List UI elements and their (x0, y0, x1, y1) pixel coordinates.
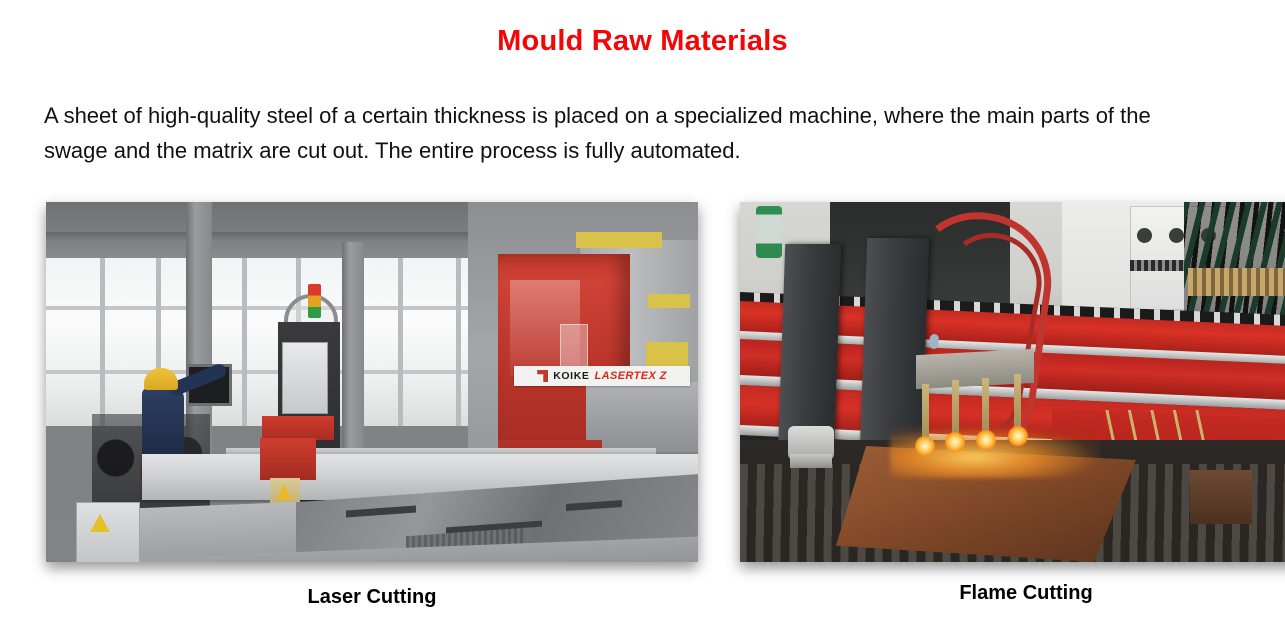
photo-flame-cutting (740, 202, 1285, 562)
window-mullion (456, 258, 461, 426)
photo-laser-cutting: KOIKE LASERTEX Z (46, 202, 698, 562)
figure-row: KOIKE LASERTEX Z (0, 186, 1285, 606)
window-mullion (242, 258, 247, 426)
figure-laser-cutting: KOIKE LASERTEX Z (46, 202, 698, 609)
cutting-torch (982, 378, 989, 436)
machine-brand-plate: KOIKE LASERTEX Z (514, 366, 690, 386)
worker-body (142, 388, 184, 454)
panel-knob (1137, 228, 1152, 243)
electrical-cabinet (76, 502, 140, 562)
machine-model-text: LASERTEX Z (595, 370, 667, 382)
structural-column (342, 242, 364, 482)
intro-paragraph: A sheet of high-quality steel of a certa… (44, 98, 1204, 168)
safety-bottle (756, 206, 782, 258)
cylindrical-device-base (790, 454, 832, 468)
yellow-panel (576, 232, 662, 248)
panel-knob (1169, 228, 1184, 243)
console-red-panel (262, 416, 334, 440)
window-mullion (100, 258, 105, 426)
worker-hard-hat (144, 368, 178, 390)
yellow-panel (648, 294, 690, 308)
terminal-block (1188, 268, 1285, 296)
koike-logo-icon (537, 370, 548, 382)
slide-page: Mould Raw Materials A sheet of high-qual… (0, 0, 1285, 619)
caption-flame-cutting: Flame Cutting (740, 582, 1285, 605)
laser-cutting-head (260, 438, 316, 480)
steel-offcut-block (1190, 470, 1252, 524)
caption-laser-cutting: Laser Cutting (46, 586, 698, 609)
figure-flame-cutting: Flame Cutting (740, 202, 1285, 605)
cutting-torch (1014, 374, 1021, 432)
cutting-torch (922, 384, 929, 442)
machine-grey-section (586, 382, 698, 452)
cable-harness (1184, 202, 1285, 320)
console-screen (282, 342, 328, 414)
flame-icon (976, 430, 996, 450)
stack-light-icon (308, 284, 321, 318)
flame-icon (1008, 426, 1028, 446)
flame-icon (945, 432, 965, 452)
window-mullion (398, 258, 403, 426)
cutting-torch (952, 380, 959, 438)
page-title: Mould Raw Materials (0, 24, 1285, 58)
flame-icon (915, 436, 935, 456)
brand-name-text: KOIKE (553, 370, 589, 382)
